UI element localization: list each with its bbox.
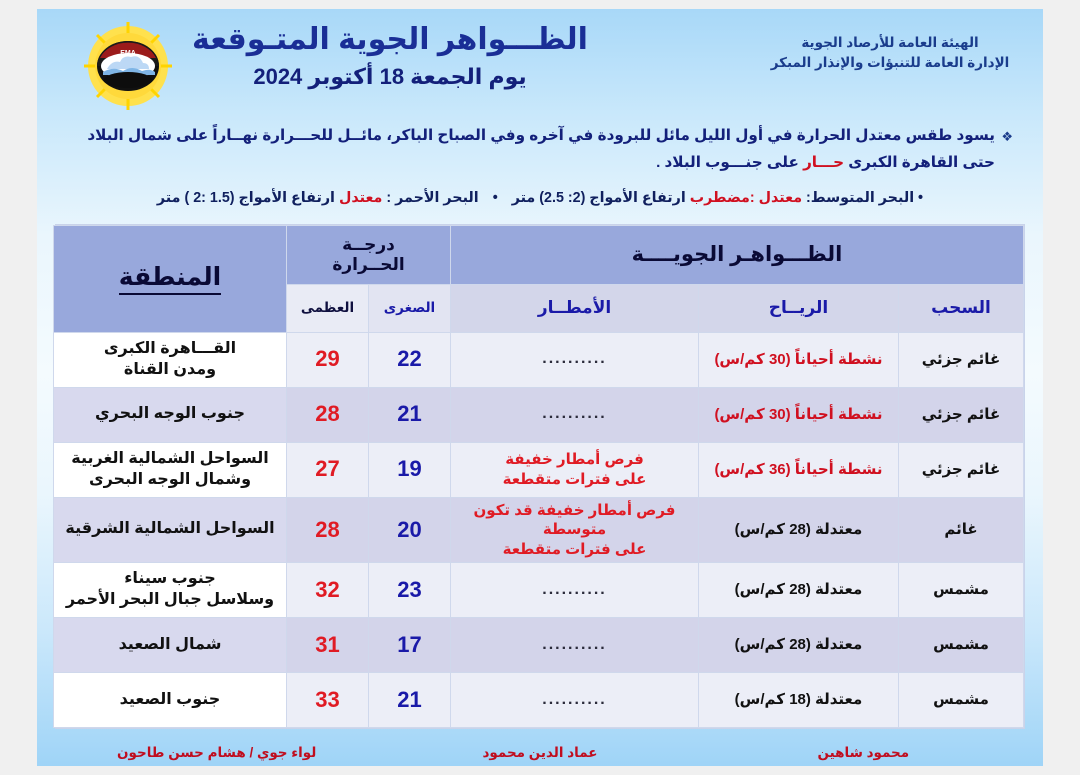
cell-region: جنوب الوجه البحري — [54, 387, 287, 442]
header-cloud: السحب — [899, 284, 1024, 332]
table-row: غائممعتدلة (28 كم/س)فرص أمطار خفيفة قد ت… — [54, 497, 1024, 563]
cell-min-temp: 20 — [369, 497, 451, 563]
cell-wind: معتدلة (28 كم/س) — [699, 618, 899, 673]
cell-cloud: غائم — [899, 497, 1024, 563]
signature-block: محمود شاهينمديرعام التنبؤات والإنذار الم… — [702, 741, 1025, 766]
cell-rain: .......... — [451, 387, 699, 442]
cell-region: جنوب الصعيد — [54, 673, 287, 728]
document-header: EMA الهيئة العامة للأرصاد الجوية الإدارة… — [37, 9, 1043, 117]
header-region: المنطقة — [54, 225, 287, 332]
table-row: مشمسمعتدلة (28 كم/س)..........2332جنوب س… — [54, 563, 1024, 618]
summary-text-part2: على جنـــوب البلاد . — [656, 154, 803, 171]
cell-region: القـــاهرة الكبرىومدن القناة — [54, 332, 287, 387]
cell-region: السواحل الشمالية الغربيةوشمال الوجه البح… — [54, 442, 287, 497]
header-temperature: درجــة الحــرارة — [287, 225, 451, 284]
cell-region: شمال الصعيد — [54, 618, 287, 673]
org-line-2: الإدارة العامة للتنبؤات والإنذار المبكر — [755, 53, 1025, 73]
header-temperature-line1: درجــة — [288, 235, 449, 255]
bullet-icon: ❖ — [1001, 126, 1013, 149]
header-phenomena: الظـــواهـر الجويــــة — [451, 225, 1024, 284]
cell-rain: .......... — [451, 332, 699, 387]
cell-cloud: غائم جزئي — [899, 442, 1024, 497]
header-max-temp: العظمى — [287, 284, 369, 332]
cell-region: جنوب سيناءوسلاسل جبال البحر الأحمر — [54, 563, 287, 618]
sea-separator: • — [493, 190, 498, 206]
cell-rain: .......... — [451, 563, 699, 618]
header-region-label: المنطقة — [119, 262, 221, 295]
header-wind: الريــاح — [699, 284, 899, 332]
org-line-1: الهيئة العامة للأرصاد الجوية — [755, 33, 1025, 53]
cell-wind: نشطة أحياناً (36 كم/س) — [699, 442, 899, 497]
table-row: غائم جزئينشطة أحياناً (36 كم/س)فرص أمطار… — [54, 442, 1024, 497]
table-row: مشمسمعتدلة (18 كم/س)..........2133جنوب ا… — [54, 673, 1024, 728]
cell-wind: نشطة أحياناً (30 كم/س) — [699, 387, 899, 442]
forecast-date: يوم الجمعة 18 أكتوبر 2024 — [37, 64, 743, 90]
header-rain: الأمطــار — [451, 284, 699, 332]
header-min-temp: الصغرى — [369, 284, 451, 332]
table-row: غائم جزئينشطة أحياناً (30 كم/س).........… — [54, 332, 1024, 387]
redsea-label: البحر الأحمر : — [386, 190, 478, 206]
cell-rain: .......... — [451, 618, 699, 673]
cell-rain: فرص أمطار خفيفةعلى فترات متقطعة — [451, 442, 699, 497]
cell-region: السواحل الشمالية الشرقية — [54, 497, 287, 563]
cell-cloud: مشمس — [899, 618, 1024, 673]
signature-block: لواء جوي / هشام حسن طاحونرئيس مجلس الإدا… — [55, 741, 378, 766]
signature-name: محمود شاهين — [702, 741, 1025, 765]
signature-block: عماد الدين محمودرئيس الإدارة المركزية لل… — [378, 741, 701, 766]
table-row: غائم جزئينشطة أحياناً (30 كم/س).........… — [54, 387, 1024, 442]
cell-wind: نشطة أحياناً (30 كم/س) — [699, 332, 899, 387]
signature-role: رئيس الإدارة المركزية للتنبؤات والإنذار … — [378, 765, 701, 766]
cell-cloud: غائم جزئي — [899, 332, 1024, 387]
cell-max-temp: 28 — [287, 387, 369, 442]
summary-text-part1: يسود طقس معتدل الحرارة في أول الليل مائل… — [87, 127, 995, 171]
cell-rain: .......... — [451, 673, 699, 728]
footer-signatures: محمود شاهينمديرعام التنبؤات والإنذار الم… — [55, 741, 1025, 766]
signature-name: لواء جوي / هشام حسن طاحون — [55, 741, 378, 765]
table-row: مشمسمعتدلة (28 كم/س)..........1731شمال ا… — [54, 618, 1024, 673]
signature-role: مديرعام التنبؤات والإنذار المبكر — [702, 765, 1025, 766]
cell-min-temp: 21 — [369, 673, 451, 728]
cell-max-temp: 28 — [287, 497, 369, 563]
weather-summary: ❖يسود طقس معتدل الحرارة في أول الليل مائ… — [59, 123, 1013, 176]
cell-min-temp: 19 — [369, 442, 451, 497]
cell-wind: معتدلة (28 كم/س) — [699, 563, 899, 618]
header-temperature-line2: الحــرارة — [288, 255, 449, 275]
mediterranean-waves: ارتفاع الأمواج (2: 2.5) متر — [512, 190, 686, 206]
cell-max-temp: 27 — [287, 442, 369, 497]
document-page: EMA الهيئة العامة للأرصاد الجوية الإدارة… — [37, 9, 1043, 766]
signature-role: رئيس مجلس الإدارة — [55, 765, 378, 766]
forecast-table-body: غائم جزئينشطة أحياناً (30 كم/س).........… — [54, 332, 1024, 728]
cell-cloud: مشمس — [899, 563, 1024, 618]
cell-min-temp: 22 — [369, 332, 451, 387]
forecast-table: الظـــواهـر الجويــــة درجــة الحــرارة … — [53, 225, 1024, 729]
redsea-waves: ارتفاع الأمواج (1.5 :2 ) متر — [157, 190, 335, 206]
cell-min-temp: 21 — [369, 387, 451, 442]
mediterranean-label: • البحر المتوسط: — [806, 190, 923, 206]
cell-wind: معتدلة (18 كم/س) — [699, 673, 899, 728]
organization-name: الهيئة العامة للأرصاد الجوية الإدارة الع… — [755, 33, 1025, 72]
summary-text-hot: حـــار — [803, 154, 844, 171]
cell-min-temp: 17 — [369, 618, 451, 673]
forecast-table-container: الظـــواهـر الجويــــة درجــة الحــرارة … — [55, 224, 1025, 730]
cell-min-temp: 23 — [369, 563, 451, 618]
cell-max-temp: 33 — [287, 673, 369, 728]
cell-cloud: مشمس — [899, 673, 1024, 728]
table-header-top-row: الظـــواهـر الجويــــة درجــة الحــرارة … — [54, 225, 1024, 284]
mediterranean-state: معتدل :مضطرب — [690, 190, 802, 206]
cell-max-temp: 32 — [287, 563, 369, 618]
signature-name: عماد الدين محمود — [378, 741, 701, 765]
page-title: الظـــواهر الجوية المتـوقعة — [37, 23, 743, 58]
cell-wind: معتدلة (28 كم/س) — [699, 497, 899, 563]
cell-max-temp: 29 — [287, 332, 369, 387]
redsea-state: معتدل — [339, 190, 382, 206]
cell-max-temp: 31 — [287, 618, 369, 673]
sea-conditions: • البحر المتوسط: معتدل :مضطرب ارتفاع الأ… — [59, 188, 1021, 209]
title-block: الظـــواهر الجوية المتـوقعة يوم الجمعة 1… — [37, 23, 743, 90]
cell-rain: فرص أمطار خفيفة قد تكون متوسطةعلى فترات … — [451, 497, 699, 563]
cell-cloud: غائم جزئي — [899, 387, 1024, 442]
